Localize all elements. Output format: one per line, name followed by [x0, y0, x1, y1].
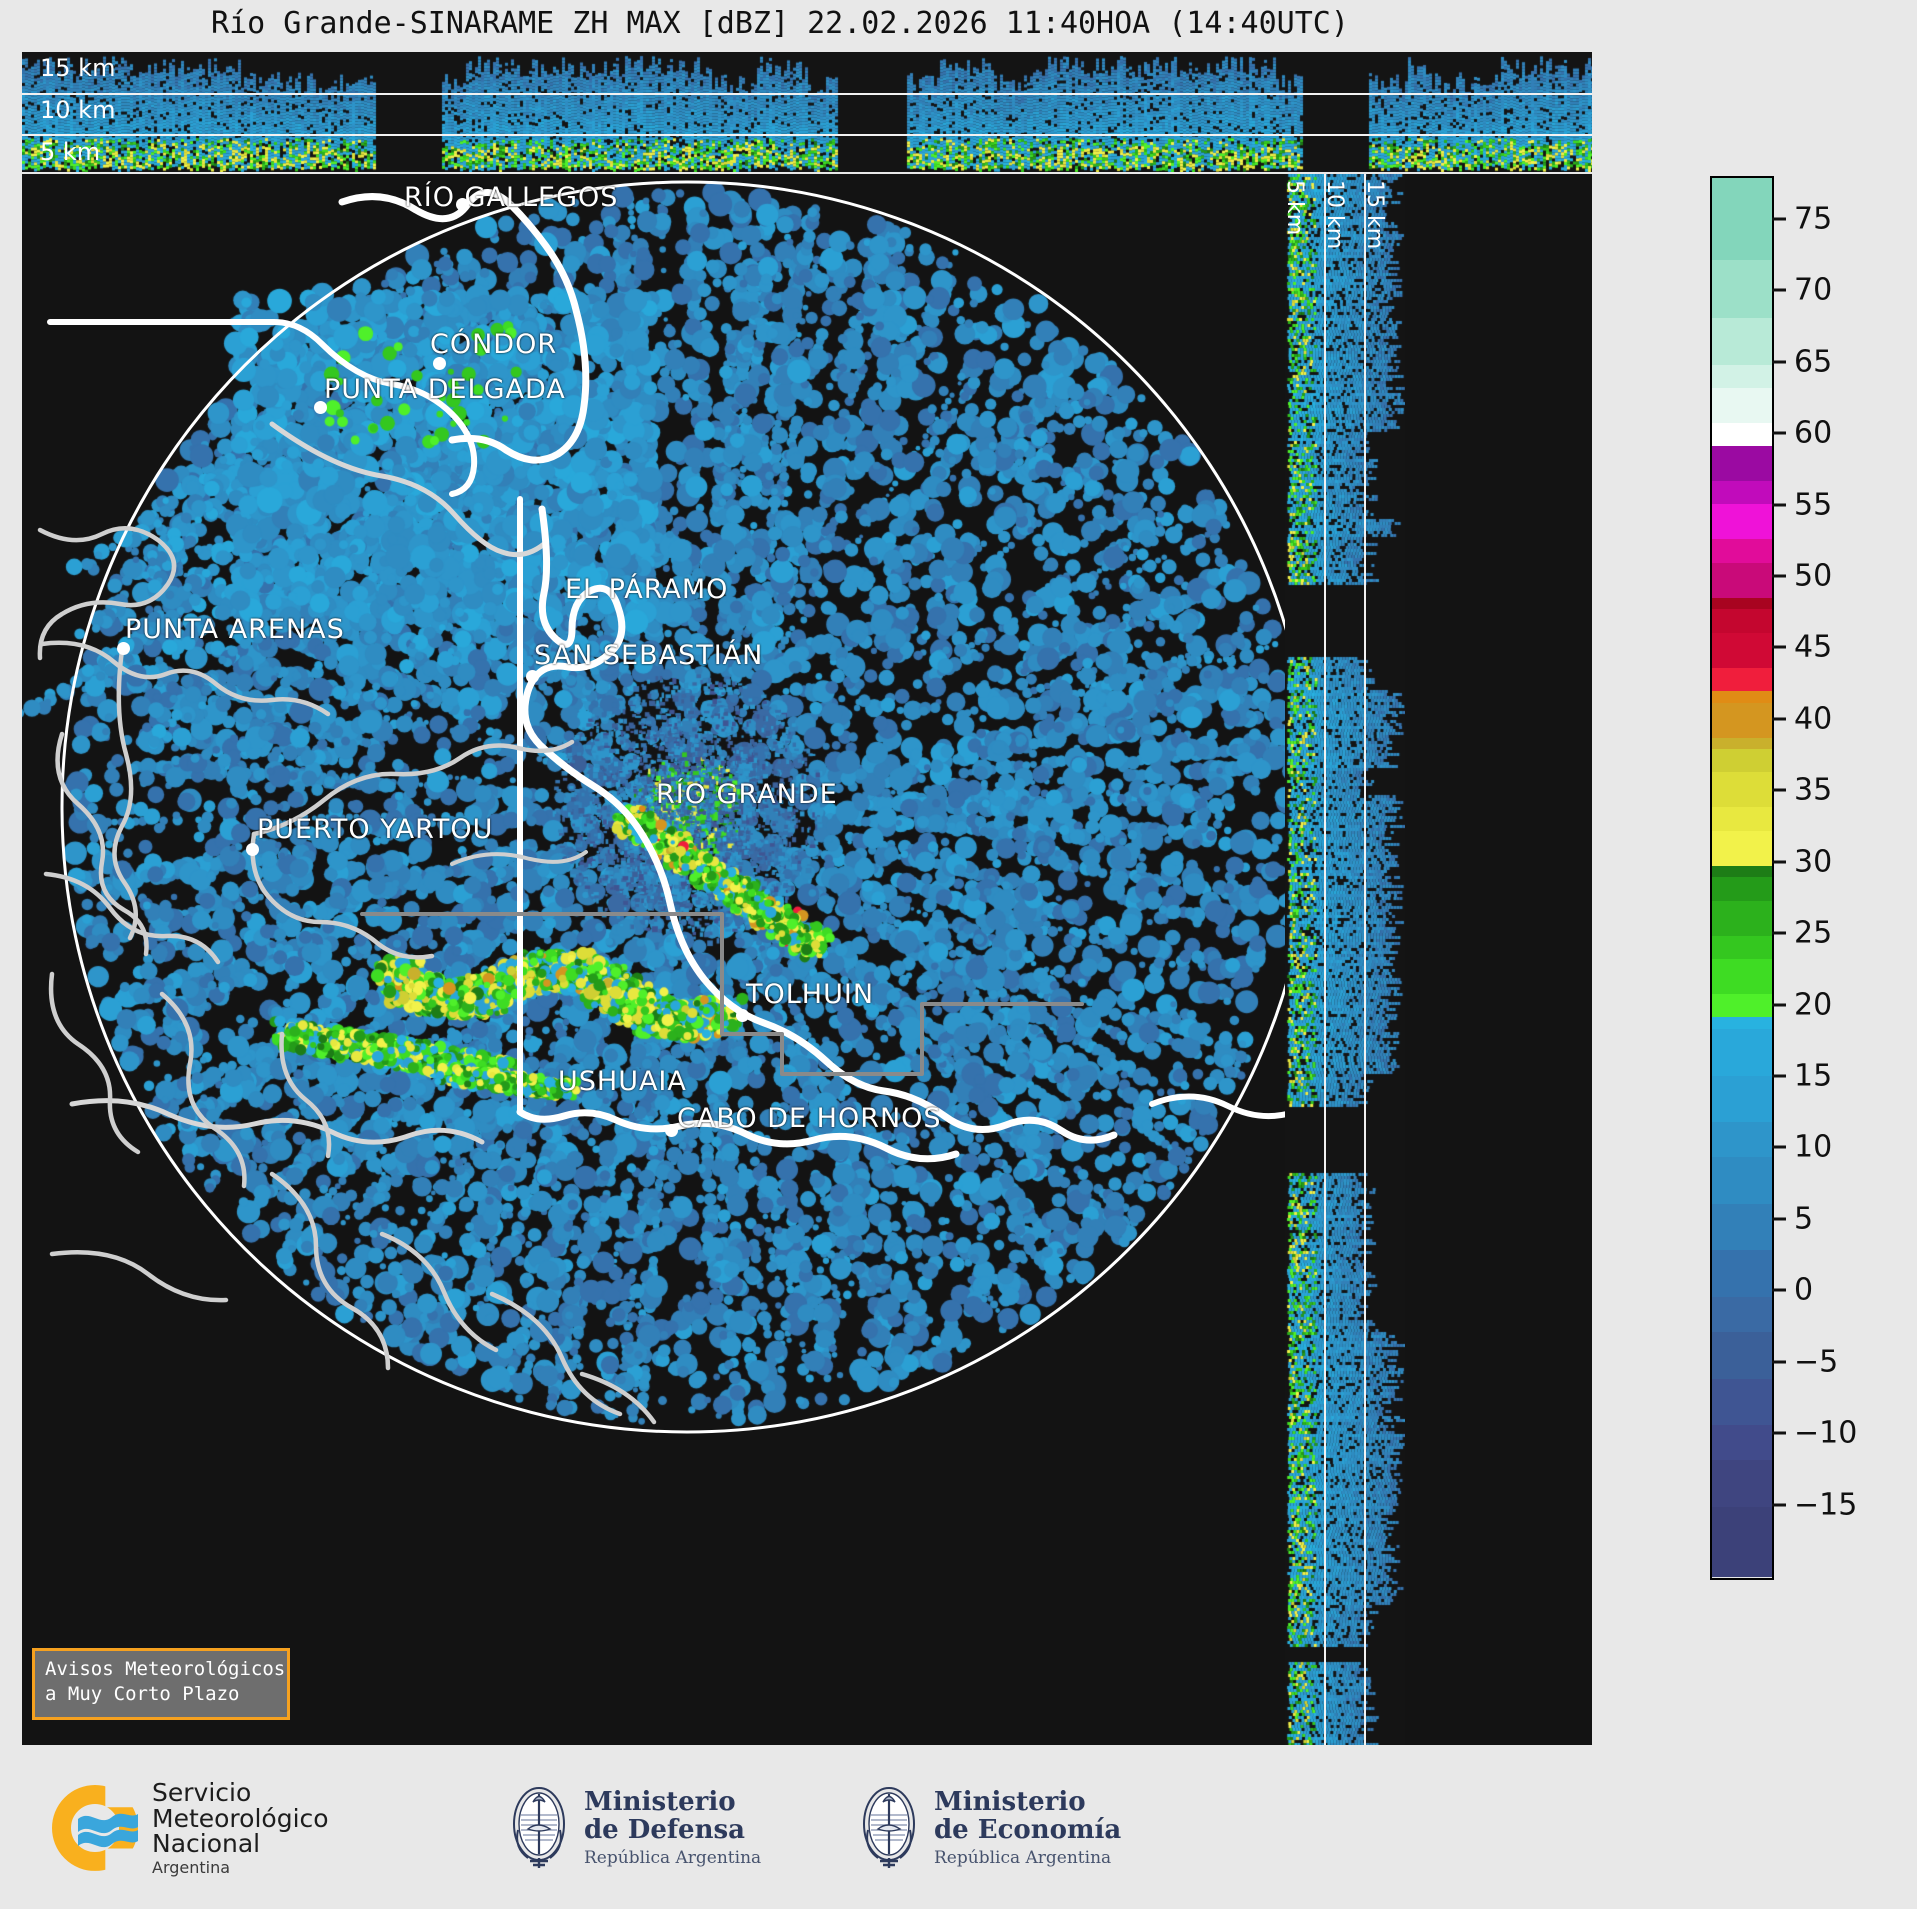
- height-label-right-10km: 10 km: [1322, 180, 1347, 249]
- coastline-isla-hoste: [272, 1174, 388, 1368]
- defensa-line2: de Defensa: [584, 1817, 761, 1845]
- city-label-san-sebastián: SAN SEBASTIÁN: [534, 640, 763, 671]
- economia-line3: República Argentina: [934, 1849, 1121, 1867]
- coastline-rio-gallegos: [342, 192, 586, 460]
- argentina-coat-of-arms-icon: [858, 1782, 920, 1874]
- colorbar-tick-label: 40: [1794, 701, 1832, 736]
- economia-line1: Ministerio: [934, 1789, 1121, 1817]
- coastline-isla-dawson: [162, 994, 244, 1186]
- colorbar-tick-label: 60: [1794, 416, 1832, 451]
- colorbar-tick-mark: [1772, 289, 1786, 292]
- smn-wave-icon: [78, 1809, 138, 1849]
- coastline-isla-navarino: [382, 1234, 496, 1350]
- colorbar-tick-mark: [1772, 432, 1786, 435]
- height-label-right-5km: 5 km: [1285, 180, 1307, 235]
- coastline-islands-south: [72, 1101, 482, 1142]
- height-label-15km: 15 km: [40, 54, 115, 82]
- coastline-magellan-strait: [272, 424, 544, 555]
- coastline-islas-wollaston: [492, 1294, 620, 1414]
- top-cross-section-panel: 15 km 10 km 5 km: [22, 52, 1592, 172]
- logo-servicio-meteorologico-nacional: Servicio Meteorológico Nacional Argentin…: [52, 1780, 329, 1876]
- city-marker-cóndor: [433, 357, 446, 370]
- city-marker-san-sebastián: [526, 670, 539, 683]
- logo-ministerio-de-economia: Ministerio de Economía República Argenti…: [858, 1782, 1121, 1874]
- warning-box[interactable]: Avisos Meteorológicos a Muy Corto Plazo: [32, 1648, 290, 1720]
- colorbar-tick-label: 70: [1794, 273, 1832, 308]
- city-label-cóndor: CÓNDOR: [430, 329, 557, 360]
- city-label-punta-arenas: PUNTA ARENAS: [125, 614, 345, 645]
- height-gridline-right-10km: [1364, 174, 1366, 1745]
- city-marker-cabo-de-hornos: [665, 1124, 678, 1137]
- city-label-río-gallegos: RÍO GALLEGOS: [404, 182, 618, 213]
- colorbar-tick-label: 0: [1794, 1273, 1813, 1308]
- footer-logos: Servicio Meteorológico Nacional Argentin…: [0, 1770, 1560, 1890]
- height-label-right-15km: 15 km: [1362, 180, 1387, 249]
- colorbar-tick-mark: [1772, 503, 1786, 506]
- coastline-east-island: [1152, 1096, 1300, 1116]
- colorbar-tick-label: 35: [1794, 773, 1832, 808]
- colorbar-tick-label: 45: [1794, 630, 1832, 665]
- smn-logo-icon: [52, 1785, 138, 1871]
- smn-line3: Nacional: [152, 1831, 329, 1857]
- coastline-fjord-2: [42, 643, 328, 714]
- colorbar-tick-mark: [1772, 1432, 1786, 1435]
- colorbar-tick-mark: [1772, 1075, 1786, 1078]
- top-cross-section-image: [22, 52, 1592, 172]
- city-label-tolhuin: TOLHUIN: [746, 979, 874, 1010]
- height-gridline-right-5km: [1324, 174, 1326, 1745]
- colorbar-tick-mark: [1772, 789, 1786, 792]
- colorbar-tick-label: −15: [1794, 1487, 1857, 1522]
- coastline-chile-mainland: [114, 650, 135, 938]
- city-marker-punta-arenas: [117, 642, 130, 655]
- economia-line2: de Economía: [934, 1817, 1121, 1845]
- colorbar-tick-mark: [1772, 1146, 1786, 1149]
- colorbar-tick-mark: [1772, 575, 1786, 578]
- colorbar-tick-label: 55: [1794, 487, 1832, 522]
- colorbar-tick-mark: [1772, 860, 1786, 863]
- city-label-ushuaia: USHUAIA: [558, 1066, 687, 1097]
- argentina-coat-of-arms-icon: [508, 1782, 570, 1874]
- colorbar: [1710, 176, 1774, 1580]
- city-label-puerto-yartou: PUERTO YARTOU: [257, 814, 493, 845]
- height-label-5km: 5 km: [40, 138, 100, 166]
- colorbar-tick-label: 75: [1794, 201, 1832, 236]
- coastline-fjord-7: [52, 1252, 226, 1300]
- city-marker-tolhuin: [736, 1009, 749, 1022]
- city-label-cabo-de-hornos: CABO DE HORNOS: [677, 1103, 942, 1134]
- defensa-line1: Ministerio: [584, 1789, 761, 1817]
- coastline-fjord-5: [51, 974, 138, 1152]
- city-label-río-grande: RÍO GRANDE: [656, 779, 838, 810]
- page-title: Río Grande-SINARAME ZH MAX [dBZ] 22.02.2…: [0, 6, 1560, 41]
- colorbar-tick-mark: [1772, 932, 1786, 935]
- city-marker-río-gallegos: [456, 198, 469, 211]
- colorbar-tick-mark: [1772, 1217, 1786, 1220]
- colorbar-tick-label: 5: [1794, 1201, 1813, 1236]
- colorbar-tick-label: 30: [1794, 844, 1832, 879]
- colorbar-tick-mark: [1772, 1503, 1786, 1506]
- provincial-boundary: [362, 914, 1082, 1074]
- colorbar-tick-mark: [1772, 1289, 1786, 1292]
- colorbar-tick-label: 65: [1794, 344, 1832, 379]
- colorbar-gradient: [1712, 178, 1772, 1578]
- colorbar-tick-label: 25: [1794, 916, 1832, 951]
- colorbar-tick-label: 15: [1794, 1059, 1832, 1094]
- colorbar-tick-label: −5: [1794, 1344, 1838, 1379]
- colorbar-tick-label: 10: [1794, 1130, 1832, 1165]
- colorbar-tick-label: −10: [1794, 1416, 1857, 1451]
- smn-line2: Meteorológico: [152, 1806, 329, 1832]
- defensa-line3: República Argentina: [584, 1849, 761, 1867]
- warning-box-line1: Avisos Meteorológicos: [45, 1657, 277, 1682]
- smn-line4: Argentina: [152, 1860, 329, 1876]
- warning-box-line2: a Muy Corto Plazo: [45, 1682, 277, 1707]
- smn-line1: Servicio: [152, 1780, 329, 1806]
- coastline-seno-almirantazgo: [253, 834, 432, 957]
- colorbar-tick-label: 50: [1794, 559, 1832, 594]
- right-cross-section-panel: 5 km 10 km 15 km: [1285, 174, 1405, 1745]
- colorbar-tick-mark: [1772, 1003, 1786, 1006]
- colorbar-tick-mark: [1772, 717, 1786, 720]
- city-marker-punta-delgada: [314, 401, 327, 414]
- city-marker-puerto-yartou: [246, 843, 259, 856]
- logo-ministerio-de-defensa: Ministerio de Defensa República Argentin…: [508, 1782, 761, 1874]
- height-label-10km: 10 km: [40, 96, 115, 124]
- right-cross-section-image: [1285, 174, 1405, 1745]
- city-label-punta-delgada: PUNTA DELGADA: [324, 374, 566, 405]
- colorbar-tick-label: 20: [1794, 987, 1832, 1022]
- colorbar-tick-mark: [1772, 217, 1786, 220]
- colorbar-tick-mark: [1772, 646, 1786, 649]
- city-label-el-páramo: EL PÁRAMO: [565, 574, 728, 605]
- height-gridline-5km: [22, 134, 1592, 136]
- coastline-fjord-6: [282, 1034, 330, 1156]
- colorbar-tick-mark: [1772, 1360, 1786, 1363]
- height-gridline-10km: [22, 93, 1592, 95]
- colorbar-tick-mark: [1772, 360, 1786, 363]
